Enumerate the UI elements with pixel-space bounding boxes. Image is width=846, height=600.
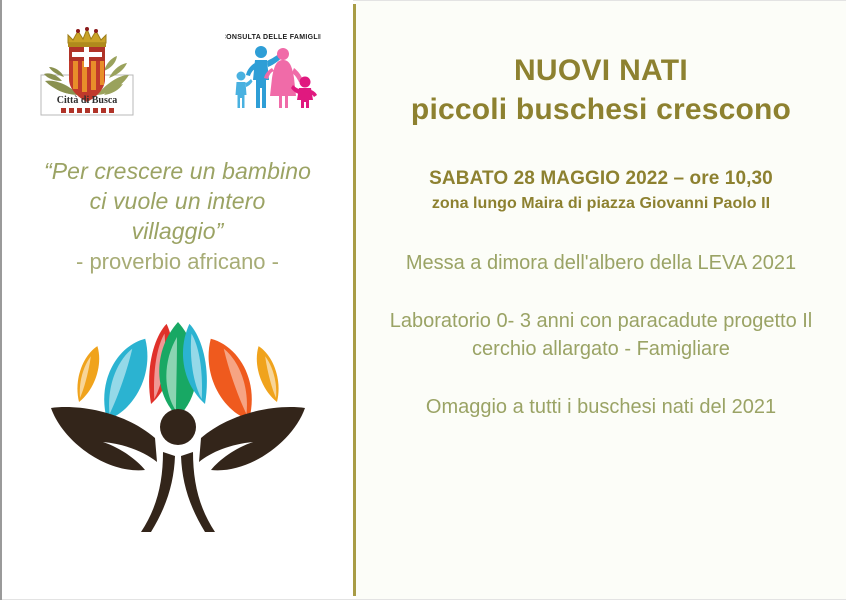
event-description-block: Messa a dimora dell'albero della LEVA 20… xyxy=(386,249,816,421)
event-date-time: SABATO 28 MAGGIO 2022 – ore 10,30 xyxy=(391,166,811,192)
logos-row: Città di Busca CONSULTA DELLE FAMIGLIE xyxy=(2,0,353,140)
poster-title-block: NUOVI NATI piccoli buschesi crescono xyxy=(411,52,791,130)
consulta-logo-caption: CONSULTA DELLE FAMIGLIE xyxy=(225,34,321,41)
quote-attribution: - proverbio africano - xyxy=(18,246,338,278)
african-proverb-quote: “Per crescere un bambino ci vuole un int… xyxy=(18,156,338,278)
poster: Città di Busca CONSULTA DELLE FAMIGLIE xyxy=(0,0,846,600)
event-location: zona lungo Maira di piazza Giovanni Paol… xyxy=(391,192,811,215)
right-panel: NUOVI NATI piccoli buschesi crescono SAB… xyxy=(356,0,846,600)
growing-tree-people-logo xyxy=(33,292,323,542)
quote-line-1: “Per crescere un bambino xyxy=(18,156,338,186)
event-activity-2: Laboratorio 0- 3 anni con paracadute pro… xyxy=(386,307,816,363)
crest-caption: Città di Busca xyxy=(56,95,117,106)
consulta-delle-famiglie-logo: CONSULTA DELLE FAMIGLIE xyxy=(225,30,321,116)
quote-line-3: villaggio” xyxy=(18,216,338,246)
leaf-amber-right xyxy=(246,344,290,404)
page-subtitle: piccoli buschesi crescono xyxy=(411,90,791,130)
event-activity-1: Messa a dimora dell'albero della LEVA 20… xyxy=(386,249,816,277)
page-title: NUOVI NATI xyxy=(411,52,791,90)
left-panel: Città di Busca CONSULTA DELLE FAMIGLIE xyxy=(2,0,353,600)
citta-di-busca-crest: Città di Busca xyxy=(35,23,139,123)
leaf-amber-left xyxy=(66,344,110,404)
quote-line-2: ci vuole un intero xyxy=(18,186,338,216)
event-datetime-block: SABATO 28 MAGGIO 2022 – ore 10,30 zona l… xyxy=(391,166,811,215)
event-activity-3: Omaggio a tutti i buschesi nati del 2021 xyxy=(386,393,816,421)
tree-person-figure xyxy=(51,407,305,532)
